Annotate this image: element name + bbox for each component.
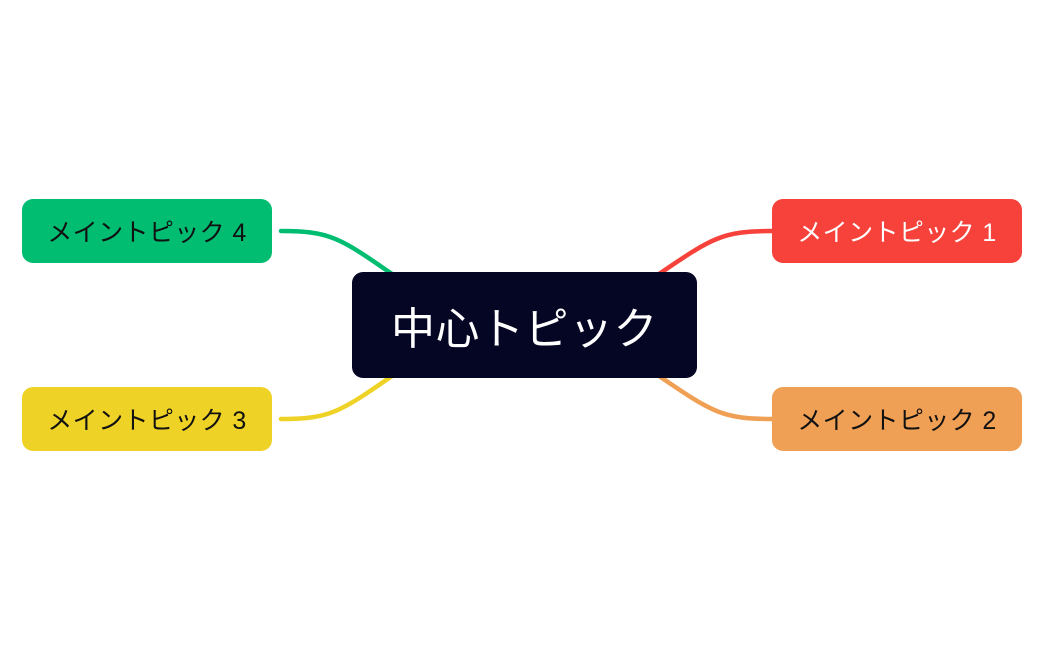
branch-node-label-topic2: メイントピック 2 — [797, 401, 996, 437]
connector-topic4 — [281, 231, 392, 274]
branch-node-topic3[interactable]: メイントピック 3 — [22, 387, 272, 451]
central-node-label: 中心トピック — [391, 293, 658, 357]
central-node[interactable]: 中心トピック — [352, 272, 697, 378]
branch-node-topic2[interactable]: メイントピック 2 — [772, 387, 1022, 451]
connector-topic2 — [659, 376, 772, 419]
connector-topic1 — [659, 231, 772, 274]
branch-node-label-topic1: メイントピック 1 — [797, 213, 996, 249]
connector-topic3 — [281, 376, 392, 419]
branch-node-label-topic4: メイントピック 4 — [47, 213, 246, 249]
branch-node-topic4[interactable]: メイントピック 4 — [22, 199, 272, 263]
mindmap-canvas: 中心トピック メイントピック 4 メイントピック 3 メイントピック 1 メイン… — [0, 0, 1049, 650]
branch-node-label-topic3: メイントピック 3 — [47, 401, 246, 437]
branch-node-topic1[interactable]: メイントピック 1 — [772, 199, 1022, 263]
